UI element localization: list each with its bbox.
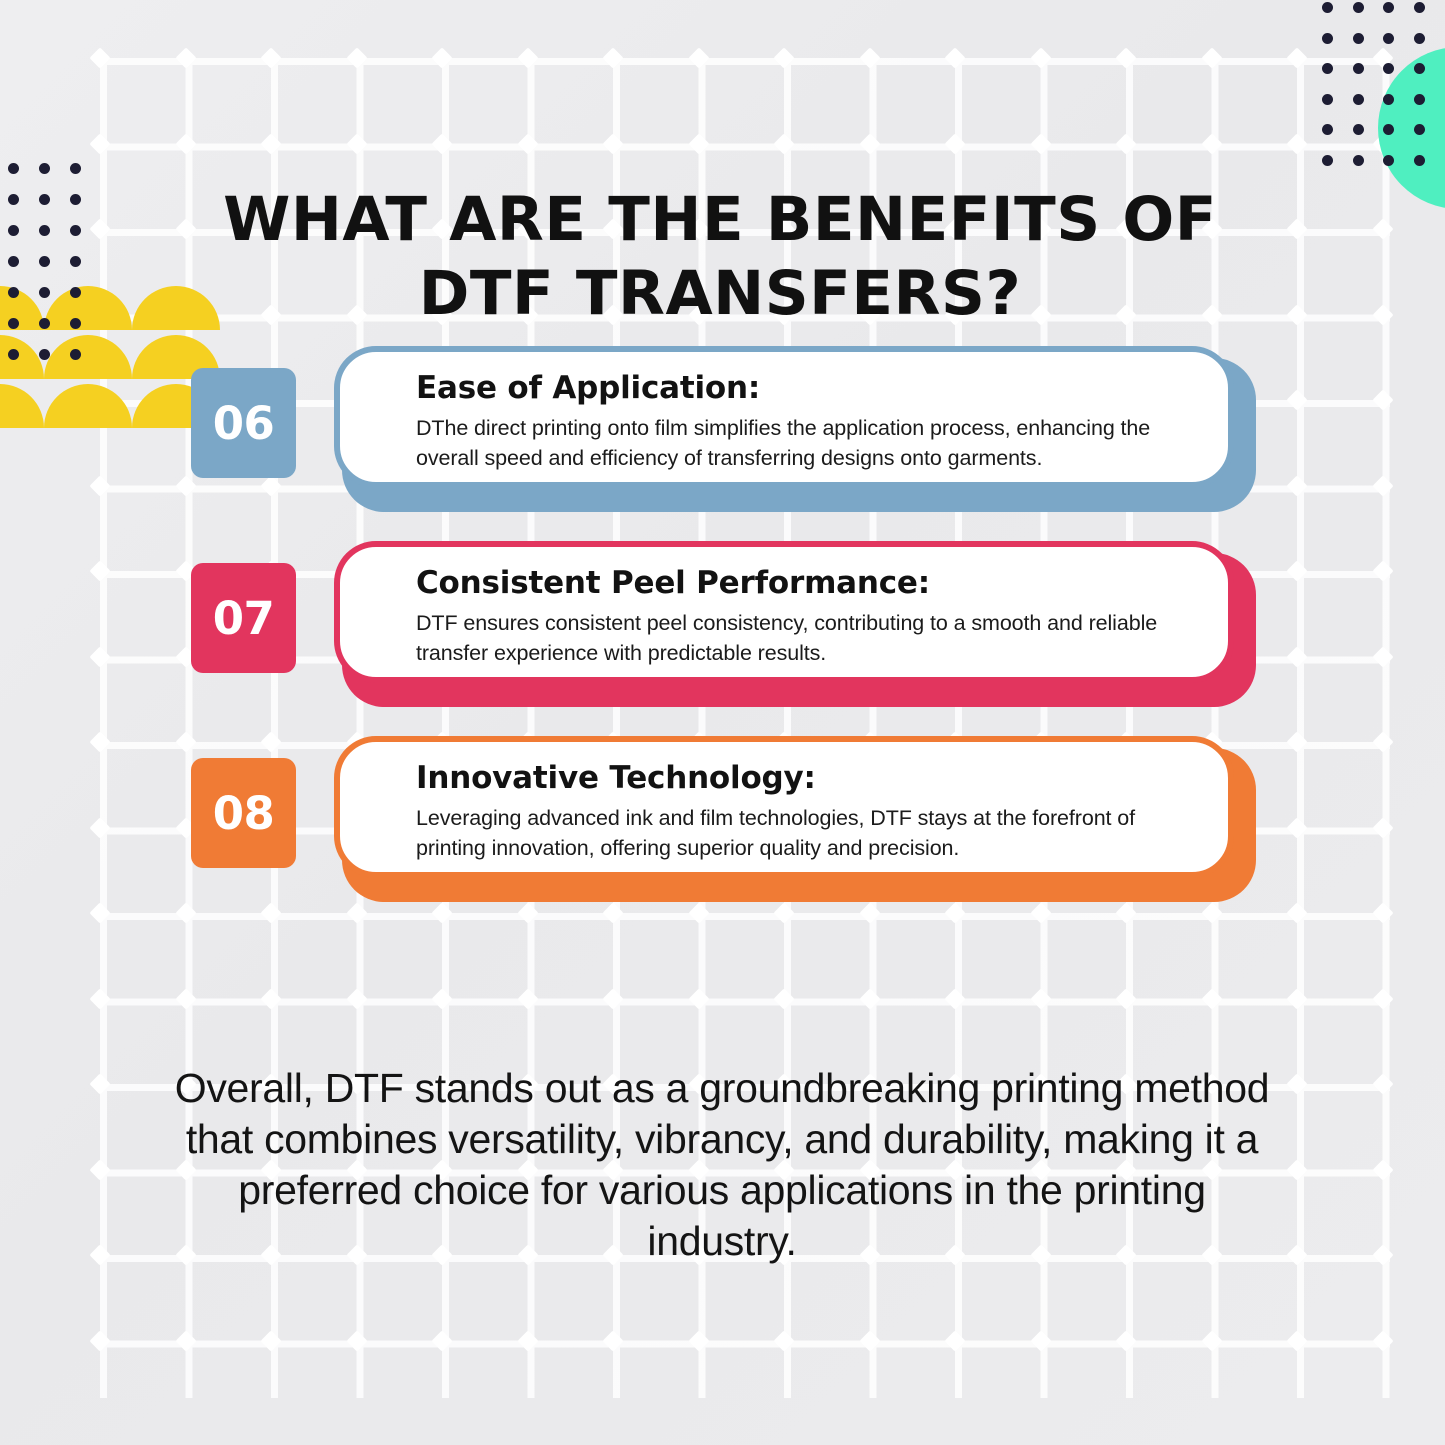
decorative-dot <box>1353 2 1364 13</box>
decorative-dot <box>8 194 19 205</box>
benefit-card-07[interactable]: Consistent Peel Performance: DTF ensures… <box>334 541 1234 683</box>
left-dot-matrix-decoration <box>8 163 92 363</box>
summary-paragraph: Overall, DTF stands out as a groundbreak… <box>172 1063 1272 1267</box>
decorative-dot <box>1383 33 1394 44</box>
decorative-dot <box>8 225 19 236</box>
decorative-dot <box>1322 63 1333 74</box>
decorative-dot <box>1383 94 1394 105</box>
card-number-label: 07 <box>213 592 275 645</box>
decorative-dot <box>70 194 81 205</box>
decorative-dot <box>1383 2 1394 13</box>
decorative-dot <box>70 318 81 329</box>
decorative-dot <box>1322 2 1333 13</box>
decorative-dot <box>1383 155 1394 166</box>
decorative-dot <box>1353 33 1364 44</box>
card-number-badge-07: 07 <box>191 563 296 673</box>
decorative-dot <box>1353 94 1364 105</box>
card-number-badge-08: 08 <box>191 758 296 868</box>
decorative-dot <box>1383 124 1394 135</box>
decorative-dot <box>8 163 19 174</box>
card-number-badge-06: 06 <box>191 368 296 478</box>
decorative-dot <box>39 194 50 205</box>
decorative-dot <box>70 256 81 267</box>
decorative-dot <box>70 287 81 298</box>
decorative-dot <box>1322 33 1333 44</box>
card-heading: Consistent Peel Performance: <box>416 565 1194 601</box>
benefit-card-row: 07 Consistent Peel Performance: DTF ensu… <box>0 533 1445 705</box>
card-number-label: 08 <box>213 787 275 840</box>
decorative-dot <box>8 318 19 329</box>
card-heading: Ease of Application: <box>416 370 1194 406</box>
card-description: Leveraging advanced ink and film technol… <box>416 803 1194 863</box>
card-description: DThe direct printing onto film simplifie… <box>416 413 1194 473</box>
decorative-dot <box>1414 124 1425 135</box>
decorative-dot <box>1414 2 1425 13</box>
decorative-dot <box>1353 63 1364 74</box>
decorative-dot <box>1414 155 1425 166</box>
benefit-card-row: 08 Innovative Technology: Leveraging adv… <box>0 728 1445 900</box>
benefit-card-06[interactable]: Ease of Application: DThe direct printin… <box>334 346 1234 488</box>
decorative-dot <box>1414 94 1425 105</box>
decorative-dot <box>70 225 81 236</box>
page-title: WHAT ARE THE BENEFITS OF DTF TRANSFERS? <box>150 183 1290 331</box>
benefits-card-list: 06 Ease of Application: DThe direct prin… <box>0 338 1445 923</box>
decorative-dot <box>39 287 50 298</box>
card-description: DTF ensures consistent peel consistency,… <box>416 608 1194 668</box>
decorative-dot <box>39 318 50 329</box>
decorative-dot <box>1414 63 1425 74</box>
decorative-dot <box>70 163 81 174</box>
decorative-dot <box>1322 155 1333 166</box>
decorative-dot <box>1383 63 1394 74</box>
benefit-card-row: 06 Ease of Application: DThe direct prin… <box>0 338 1445 510</box>
decorative-dot <box>39 163 50 174</box>
decorative-dot <box>8 287 19 298</box>
decorative-dot <box>39 256 50 267</box>
decorative-dot <box>1322 94 1333 105</box>
decorative-dot <box>8 256 19 267</box>
decorative-dot <box>1353 124 1364 135</box>
card-heading: Innovative Technology: <box>416 760 1194 796</box>
top-right-dot-matrix-decoration <box>1322 2 1445 177</box>
decorative-dot <box>1414 33 1425 44</box>
benefit-card-08[interactable]: Innovative Technology: Leveraging advanc… <box>334 736 1234 878</box>
decorative-dot <box>1322 124 1333 135</box>
card-number-label: 06 <box>213 397 275 450</box>
decorative-dot <box>39 225 50 236</box>
decorative-dot <box>1353 155 1364 166</box>
